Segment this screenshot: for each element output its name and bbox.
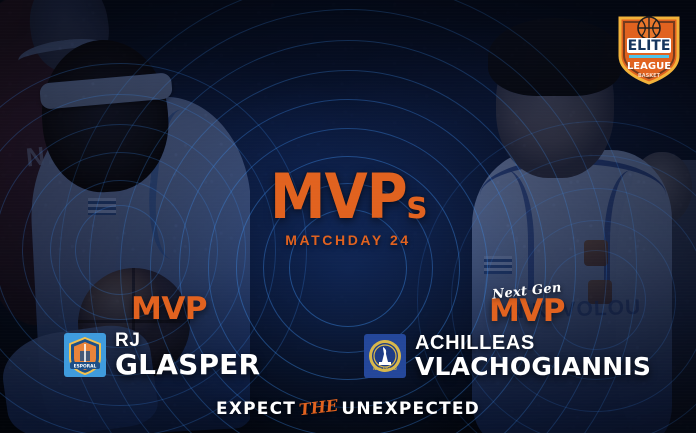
- award-right-names: ACHILLEAS VLACHOGIANNIS: [415, 333, 651, 379]
- award-right-first-name: ACHILLEAS: [415, 333, 651, 353]
- mvp-graphic: N.E NIKI VOLOU: [0, 0, 696, 433]
- award-left-body: ESPORAL RJ GLASPER: [0, 331, 338, 379]
- logo-line2: LEAGUE: [627, 61, 671, 72]
- award-left-last-name: GLASPER: [115, 351, 260, 379]
- club-badge-icon-left: ESPORAL: [64, 333, 106, 377]
- award-right-body: NIKI VOLOU ACHILLEAS VLACHOGIANNIS: [358, 333, 696, 379]
- tagline-word-3: UNEXPECTED: [341, 399, 480, 419]
- tagline: EXPECTTHEUNEXPECTED: [0, 399, 696, 419]
- award-left-names: RJ GLASPER: [115, 331, 260, 379]
- award-right-label-row: Next Gen MVP: [358, 295, 696, 329]
- tagline-word-1: EXPECT: [216, 399, 296, 419]
- tagline-word-2: THE: [298, 396, 339, 420]
- elite-league-logo: ELITE LEAGUE BASKET: [616, 12, 682, 86]
- svg-text:NIKI VOLOU: NIKI VOLOU: [373, 367, 397, 371]
- award-block-right: Next Gen MVP NIKI VOLOU ACHILLEAS VLACHO…: [358, 295, 696, 379]
- award-left-label: MVP: [131, 291, 207, 327]
- award-left-label-row: MVP: [0, 293, 338, 327]
- award-right-last-name: VLACHOGIANNIS: [415, 354, 651, 379]
- award-block-left: MVP ESPORAL RJ GLASPER: [0, 293, 338, 379]
- logo-line3: BASKET: [638, 73, 661, 79]
- club-badge-icon-right: NIKI VOLOU: [364, 334, 406, 378]
- svg-text:ESPORAL: ESPORAL: [74, 364, 97, 370]
- logo-line1: ELITE: [628, 38, 671, 54]
